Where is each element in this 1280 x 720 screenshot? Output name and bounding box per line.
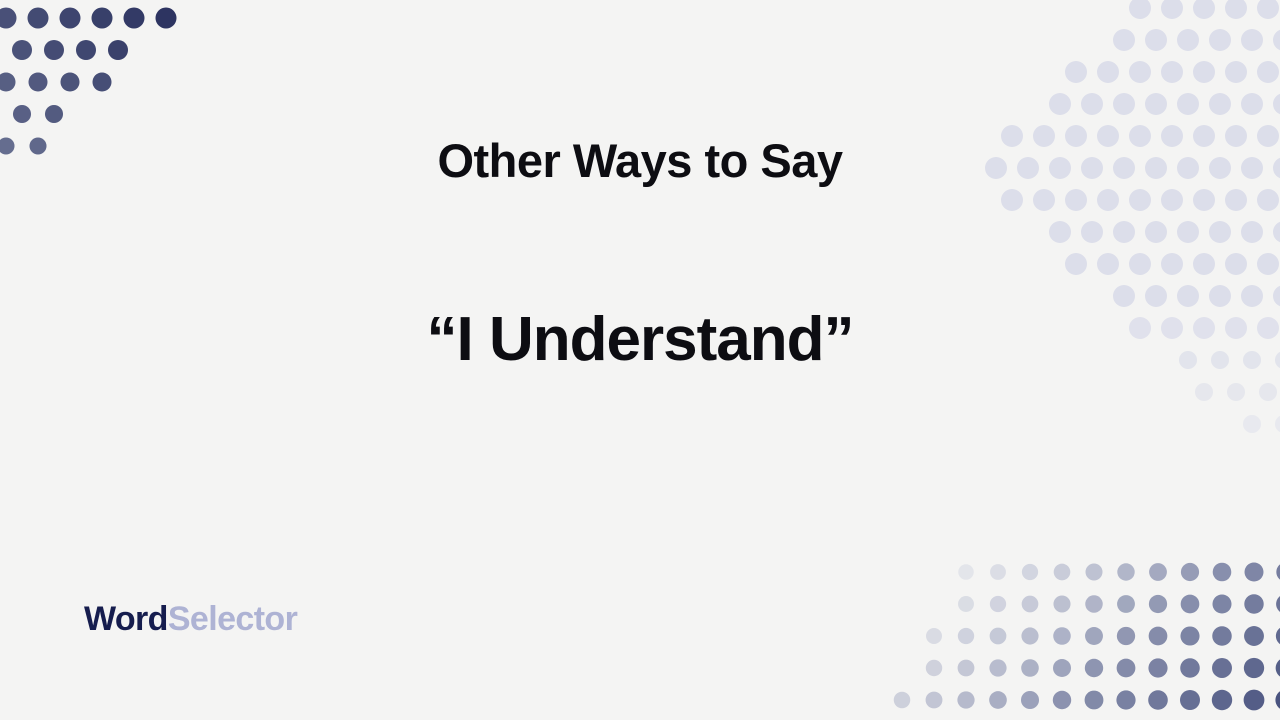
slide-canvas: Other Ways to Say “I Understand” WordSel…	[0, 0, 1280, 720]
brand-logo-primary: Word	[84, 600, 168, 638]
page-subject: “I Understand”	[0, 306, 1280, 374]
dot-pattern-bottom-right-icon	[880, 550, 1280, 720]
brand-logo-secondary: Selector	[168, 600, 297, 638]
page-title: Other Ways to Say	[0, 135, 1280, 187]
brand-logo[interactable]: WordSelector	[84, 602, 297, 636]
